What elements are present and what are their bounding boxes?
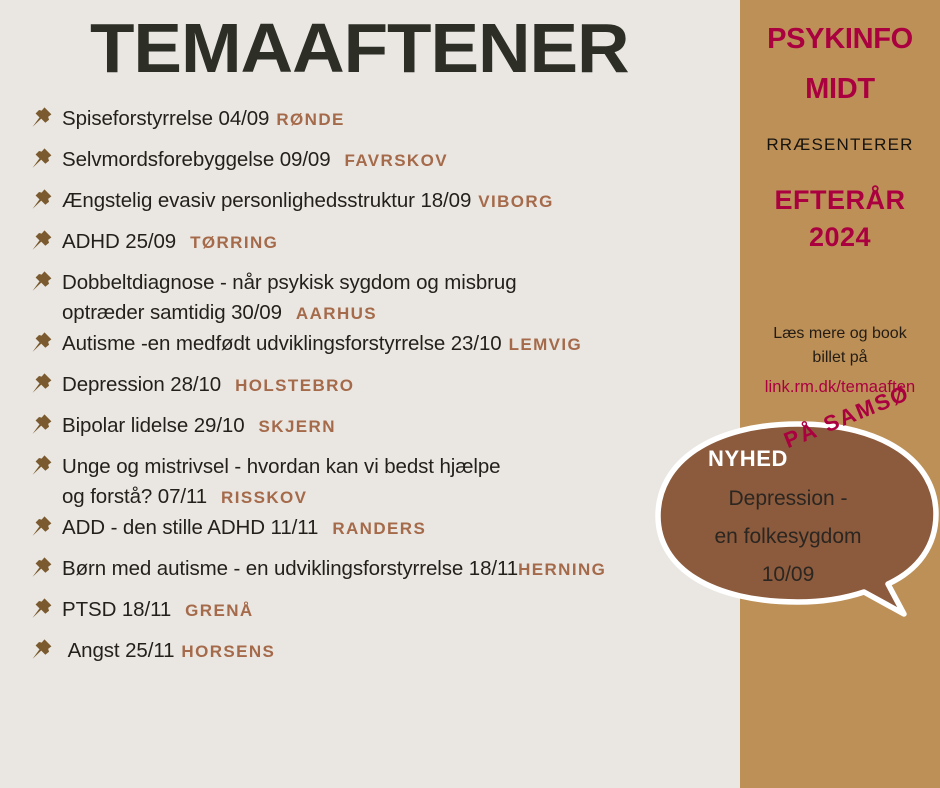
event-text: Selvmordsforebyggelse 09/09FAVRSKOV <box>62 145 448 176</box>
pushpin-icon <box>28 330 54 356</box>
event-title: ADHD 25/09 <box>62 230 176 253</box>
poster-canvas: TEMAAFTENER Spiseforstyrrelse 04/09RØNDE… <box>0 0 940 788</box>
event-city: FAVRSKOV <box>331 151 448 170</box>
event-city: RANDERS <box>318 519 426 538</box>
event-title: Ængstelig evasiv personlighedsstruktur 1… <box>62 189 471 212</box>
presents-label: RRÆSENTERER <box>740 135 940 155</box>
event-row[interactable]: Børn med autisme - en udviklingsforstyrr… <box>0 554 745 595</box>
news-line-1: Depression - <box>672 480 904 518</box>
event-row[interactable]: ADD - den stille ADHD 11/11RANDERS <box>0 513 745 554</box>
event-title: Børn med autisme - en udviklingsforstyrr… <box>62 557 518 580</box>
event-city: HERNING <box>518 560 606 579</box>
event-title: Autisme -en medfødt udviklingsforstyrrel… <box>62 332 502 355</box>
pushpin-icon <box>28 146 54 172</box>
event-title: Angst 25/11 <box>62 639 174 662</box>
event-title: Bipolar lidelse 29/10 <box>62 414 245 437</box>
pushpin-icon <box>28 412 54 438</box>
event-row[interactable]: Selvmordsforebyggelse 09/09FAVRSKOV <box>0 145 745 186</box>
event-text: Angst 25/11HORSENS <box>62 636 275 667</box>
event-text: Depression 28/10HOLSTEBRO <box>62 370 354 401</box>
event-row[interactable]: Depression 28/10HOLSTEBRO <box>0 370 745 411</box>
news-line-2: en folkesygdom <box>672 518 904 556</box>
pushpin-icon <box>28 637 54 663</box>
event-text: ADHD 25/09TØRRING <box>62 227 278 258</box>
event-city: GRENÅ <box>171 601 253 620</box>
pushpin-icon <box>28 596 54 622</box>
booking-info-line1: Læs mere og book <box>773 325 906 342</box>
event-city: HOLSTEBRO <box>221 376 354 395</box>
event-text: PTSD 18/11GRENÅ <box>62 595 254 626</box>
event-text: ADD - den stille ADHD 11/11RANDERS <box>62 513 426 544</box>
event-city: SKJERN <box>245 417 336 436</box>
pushpin-icon <box>28 514 54 540</box>
event-city: TØRRING <box>176 233 278 252</box>
event-list: Spiseforstyrrelse 04/09RØNDESelvmordsfor… <box>0 104 745 677</box>
booking-info: Læs mere og book billet på <box>746 322 934 370</box>
event-text: Bipolar lidelse 29/10SKJERN <box>62 411 336 442</box>
event-row[interactable]: Autisme -en medfødt udviklingsforstyrrel… <box>0 329 745 370</box>
pushpin-icon <box>28 269 54 295</box>
event-row[interactable]: Unge og mistrivsel - hvordan kan vi beds… <box>0 452 745 513</box>
event-title: ADD - den stille ADHD 11/11 <box>62 516 318 539</box>
event-row[interactable]: Angst 25/11HORSENS <box>0 636 745 677</box>
pushpin-icon <box>28 555 54 581</box>
pushpin-icon <box>28 228 54 254</box>
news-event-text: Depression - en folkesygdom 10/09 <box>672 480 904 594</box>
event-title: Selvmordsforebyggelse 09/09 <box>62 148 331 171</box>
booking-info-line2: billet på <box>812 349 867 366</box>
news-line-3: 10/09 <box>672 556 904 594</box>
event-city: HORSENS <box>174 642 275 661</box>
brand-name-line2: MIDT <box>740 73 940 106</box>
event-text: Autisme -en medfødt udviklingsforstyrrel… <box>62 329 582 360</box>
event-city: RØNDE <box>269 110 344 129</box>
event-row[interactable]: Bipolar lidelse 29/10SKJERN <box>0 411 745 452</box>
season-label: EFTERÅR <box>740 185 940 216</box>
pushpin-icon <box>28 371 54 397</box>
event-text: Børn med autisme - en udviklingsforstyrr… <box>62 554 606 585</box>
sidebar: PSYKINFO MIDT RRÆSENTERER EFTERÅR 2024 L… <box>740 0 940 788</box>
event-row[interactable]: Dobbeltdiagnose - når psykisk sygdom og … <box>0 268 745 329</box>
pushpin-icon <box>28 105 54 131</box>
event-title: Depression 28/10 <box>62 373 221 396</box>
event-row[interactable]: Ængstelig evasiv personlighedsstruktur 1… <box>0 186 745 227</box>
event-row[interactable]: PTSD 18/11GRENÅ <box>0 595 745 636</box>
brand-name-line1: PSYKINFO <box>740 23 940 56</box>
event-title: Spiseforstyrrelse 04/09 <box>62 107 269 130</box>
news-badge: NYHED <box>708 446 788 472</box>
event-city: AARHUS <box>282 304 377 323</box>
event-text: Spiseforstyrrelse 04/09RØNDE <box>62 104 345 135</box>
page-title: TEMAAFTENER <box>90 8 629 88</box>
event-text: Unge og mistrivsel - hvordan kan vi beds… <box>62 452 500 513</box>
pushpin-icon <box>28 453 54 479</box>
event-text: Dobbeltdiagnose - når psykisk sygdom og … <box>62 268 517 329</box>
event-city: RISSKOV <box>207 488 307 507</box>
news-speech-bubble: NYHED PÅ SAMSØ Depression - en folkesygd… <box>648 418 940 643</box>
event-row[interactable]: Spiseforstyrrelse 04/09RØNDE <box>0 104 745 145</box>
season-year: 2024 <box>740 222 940 253</box>
event-text: Ængstelig evasiv personlighedsstruktur 1… <box>62 186 554 217</box>
event-city: VIBORG <box>471 192 553 211</box>
event-city: LEMVIG <box>502 335 583 354</box>
event-row[interactable]: ADHD 25/09TØRRING <box>0 227 745 268</box>
pushpin-icon <box>28 187 54 213</box>
event-title: PTSD 18/11 <box>62 598 171 621</box>
